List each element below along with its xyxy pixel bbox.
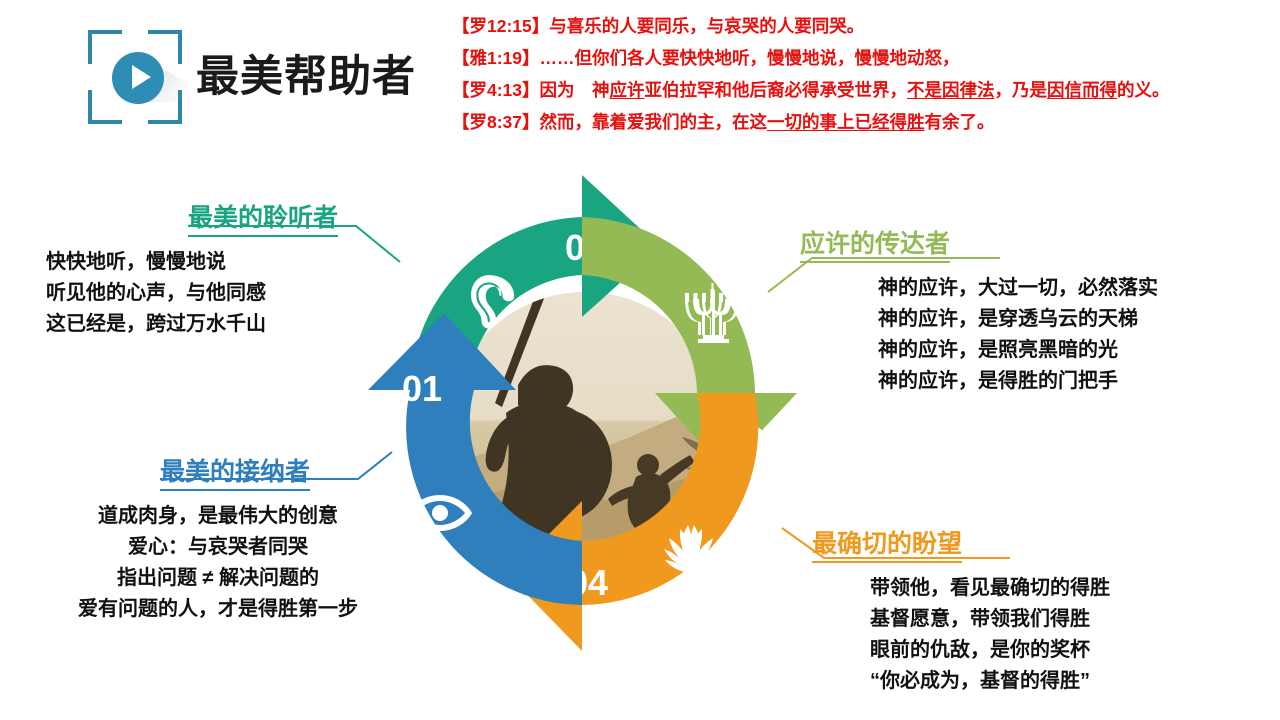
panel-listener-heading: 最美的聆听者 (188, 198, 338, 237)
panel-line: 指出问题 ≠ 解决问题的 (38, 563, 398, 594)
slide-canvas: 最美帮助者 【罗12:15】与喜乐的人要同乐，与哀哭的人要同哭。 【雅1:19】… (0, 0, 1280, 720)
panel-listener: 最美的聆听者 快快地听，慢慢地说 听见他的心声，与他同感 这已经是，跨过万水千山 (46, 198, 338, 340)
panel-listener-body: 快快地听，慢慢地说 听见他的心声，与他同感 这已经是，跨过万水千山 (46, 247, 338, 340)
panel-promise: 应许的传达者 神的应许，大过一切，必然落实 神的应许，是穿透乌云的天梯 神的应许… (800, 224, 1158, 397)
panel-receiver-body: 道成肉身，是最伟大的创意 爱心：与哀哭者同哭 指出问题 ≠ 解决问题的 爱有问题… (38, 501, 398, 625)
panel-receiver-heading: 最美的接纳者 (160, 452, 310, 491)
panel-hope: 最确切的盼望 带领他，看见最确切的得胜 基督愿意，带领我们得胜 眼前的仇敌，是你… (812, 524, 1110, 697)
panel-hope-heading: 最确切的盼望 (812, 524, 962, 563)
panel-promise-heading: 应许的传达者 (800, 224, 950, 263)
panel-line: 道成肉身，是最伟大的创意 (38, 501, 398, 532)
panel-line: 基督愿意，带领我们得胜 (870, 604, 1110, 635)
panel-line: 爱有问题的人，才是得胜第一步 (38, 594, 398, 625)
panel-promise-body: 神的应许，大过一切，必然落实 神的应许，是穿透乌云的天梯 神的应许，是照亮黑暗的… (878, 273, 1158, 397)
panel-receiver: 最美的接纳者 道成肉身，是最伟大的创意 爱心：与哀哭者同哭 指出问题 ≠ 解决问… (38, 452, 398, 625)
panel-line: 这已经是，跨过万水千山 (46, 309, 338, 340)
panel-line: 带领他，看见最确切的得胜 (870, 573, 1110, 604)
panel-line: 神的应许，是得胜的门把手 (878, 366, 1158, 397)
panel-line: 神的应许，是穿透乌云的天梯 (878, 304, 1158, 335)
panel-line: 神的应许，是照亮黑暗的光 (878, 335, 1158, 366)
segment-number-01: 01 (402, 368, 442, 409)
panel-line: 眼前的仇敌，是你的奖杯 (870, 635, 1110, 666)
panel-line: 快快地听，慢慢地说 (46, 247, 338, 278)
panel-line: 爱心：与哀哭者同哭 (38, 532, 398, 563)
panel-line: 听见他的心声，与他同感 (46, 278, 338, 309)
panel-line: 神的应许，大过一切，必然落实 (878, 273, 1158, 304)
panel-line: “你必成为，基督的得胜” (870, 666, 1110, 697)
panel-hope-body: 带领他，看见最确切的得胜 基督愿意，带领我们得胜 眼前的仇敌，是你的奖杯 “你必… (870, 573, 1110, 697)
cycle-diagram: 02 (330, 165, 840, 690)
